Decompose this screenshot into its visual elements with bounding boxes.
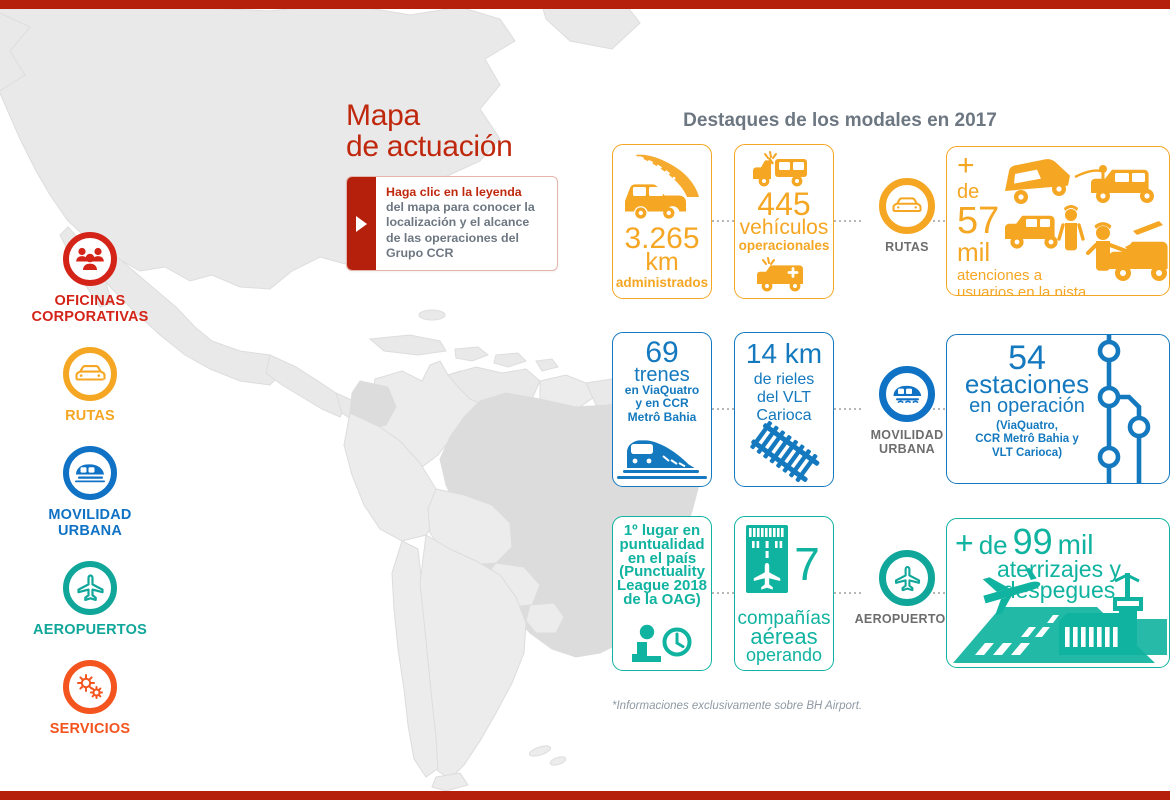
card-caption-6: de la OAG) [613,593,711,607]
legend-label-line1: RUTAS [65,408,115,424]
car-front-icon [879,178,935,234]
card-number: 99 [1013,525,1053,558]
page-title: Mapa de actuación [346,100,596,162]
card-caption-2: operacionales [735,238,833,253]
legend-label: SERVICIOS [24,721,156,737]
card-km-administrados[interactable]: 3.265 km administrados [612,144,712,299]
card-number: 445 [735,190,833,219]
connector-dots [712,220,734,222]
badge-circle [879,366,935,422]
card-prefix-2: de [957,183,1086,201]
card-caption-1: vehículos [735,218,833,237]
legend-label-line1: AEROPUERTOS [33,622,147,638]
car-icon [63,347,117,401]
bottom-accent-bar [0,791,1170,800]
tow-truck-icon [735,149,833,191]
infographic-page: Mapa de actuación Haga clic en la leyend… [0,0,1170,800]
panel-footnote: *Informaciones exclusivamente sobre BH A… [612,700,862,712]
legend-label: AEROPUERTOS [24,622,156,638]
card-number: 7 [785,543,829,585]
top-accent-bar [0,0,1170,9]
legend-badge [63,347,117,401]
card-caption: administrados [613,275,711,290]
card-aterrizajes-despegues[interactable]: + de 99 mil aterrizajes y despegues [946,518,1170,668]
card-caption-2: despegues [955,580,1163,601]
map-hint-callout[interactable]: Haga clic en la leyenda del mapa para co… [346,176,558,271]
hint-line-3: localización y el alcance [386,215,529,229]
hint-line-4: de las operaciones del [386,231,519,245]
legend-label-line2: CORPORATIVAS [31,309,148,325]
highlights-row-movilidad-urbana: 69 trenes en ViaQuatro y en CCR Metrô Ba… [600,330,1170,490]
card-atenciones-usuarios[interactable]: + de 57 mil atenciones a usuarios en la … [946,146,1170,296]
legend-item-rutas[interactable]: RUTAS [24,347,156,424]
legend-item-movilidad-urbana[interactable]: MOVILIDAD URBANA [24,446,156,539]
card-vehiculos-operacionales[interactable]: 445 vehículos operacionales [734,144,834,299]
legend-label-line1: SERVICIOS [50,721,131,737]
badge-label-line2: URBANA [879,442,935,456]
legend-label-line1: MOVILIDAD [48,507,131,523]
legend-badge [63,232,117,286]
legend-label: RUTAS [24,408,156,424]
passenger-clock-icon [613,624,711,666]
highlights-row-aeropuertos: 1º lugar en puntualidad en el país (Punc… [600,514,1170,674]
hint-line-2: del mapa para conocer la [386,200,535,214]
legend-badge [63,561,117,615]
ambulance-icon [735,256,833,296]
badge-circle [879,550,935,606]
highway-car-icon [613,149,711,231]
card-caption-2: usuarios en la pista [957,284,1086,296]
hint-line-1: Haga clic en la leyenda [386,185,522,199]
airplane-icon [63,561,117,615]
card-caption-3: (ViaQuatro, [951,420,1103,434]
card-caption-1: trenes [613,366,711,384]
legend-item-servicios[interactable]: SERVICIOS [24,660,156,737]
card-caption-4: Metrô Bahia [613,411,711,425]
metro-train-icon [879,366,935,422]
card-prefix: + [957,153,1086,179]
connector-dots [712,408,734,410]
card-caption-3: operando [735,647,833,664]
card-number: 69 [613,339,711,367]
legend-label: MOVILIDAD URBANA [24,507,156,539]
card-number: 57 [957,203,1086,239]
map-legend: OFICINAS CORPORATIVAS [24,232,174,759]
card-caption-4: CCR Metrô Bahia y [951,433,1103,447]
legend-label: OFICINAS CORPORATIVAS [24,293,156,325]
card-caption-2: en ViaQuatro [613,384,711,398]
card-caption-1: de rieles [735,371,833,389]
card-caption-1: atenciones a [957,267,1086,284]
card-number: 14 km [735,341,833,367]
legend-badge [63,660,117,714]
card-companias-aereas[interactable]: 7 compañías aéreas operando [734,516,834,671]
rail-track-icon [735,420,833,486]
map-title-block: Mapa de actuación Haga clic en la leyend… [346,100,596,271]
card-caption-5: VLT Carioca) [951,447,1103,461]
gears-icon [63,660,117,714]
card-caption-2: del VLT [735,389,833,407]
card-prefix: + [955,529,974,558]
hint-line-5: Grupo CCR [386,246,453,260]
card-caption-1: estaciones [951,373,1103,397]
card-unit: mil [957,241,1086,265]
highlights-panel: Destaques de los modales en 2017 [600,110,1170,702]
legend-label-line1: OFICINAS [55,293,126,309]
card-caption-2: aéreas [735,627,833,647]
badge-circle [879,178,935,234]
legend-label-line2: URBANA [58,523,122,539]
card-trenes[interactable]: 69 trenes en ViaQuatro y en CCR Metrô Ba… [612,332,712,487]
legend-item-oficinas-corporativas[interactable]: OFICINAS CORPORATIVAS [24,232,156,325]
card-caption-2: en operación [951,397,1103,415]
panel-title: Destaques de los modales en 2017 [620,110,1060,132]
people-group-icon [63,232,117,286]
card-unit: mil [1058,532,1094,558]
map-hint-text: Haga clic en la leyenda del mapa para co… [376,177,544,270]
legend-item-aeropuertos[interactable]: AEROPUERTOS [24,561,156,638]
runway-airplane-icon [743,523,791,609]
airplane-icon [879,550,935,606]
train-icon [63,446,117,500]
map-title-line1: Mapa [346,99,420,132]
highlights-row-rutas: 3.265 km administrados [600,142,1170,302]
map-title-line2: de actuación [346,131,596,162]
train-side-icon [613,430,711,482]
card-prefix-2: de [979,534,1008,558]
card-rieles[interactable]: 14 km de rieles del VLT Carioca [734,332,834,487]
play-arrow-icon[interactable] [347,177,376,270]
card-caption-3: y en CCR [613,397,711,411]
card-puntualidad[interactable]: 1º lugar en puntualidad en el país (Punc… [612,516,712,671]
badge-label-line1: MOVILIDAD [871,428,944,442]
card-estaciones[interactable]: 54 estaciones en operación (ViaQuatro, C… [946,334,1170,484]
legend-badge [63,446,117,500]
connector-dots [712,592,734,594]
